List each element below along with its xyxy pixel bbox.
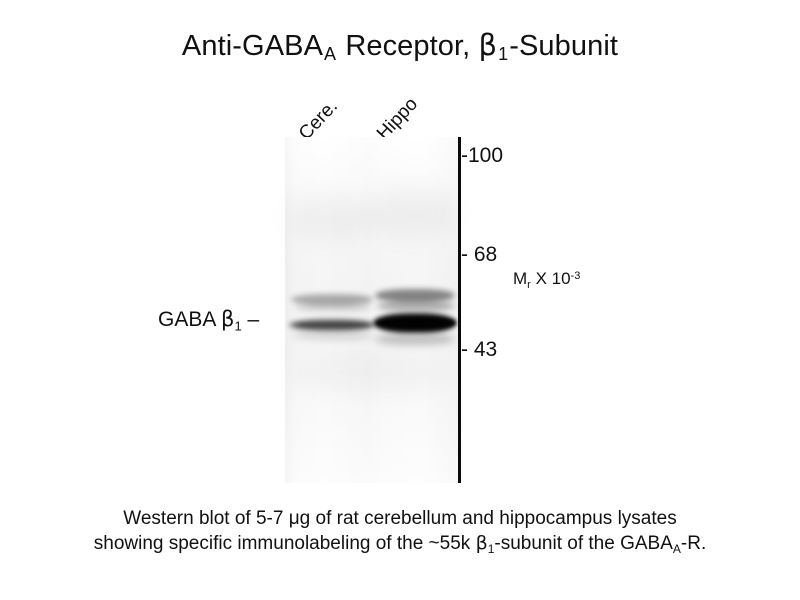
title-middle: Receptor, (337, 30, 478, 62)
caption-line-1: Western blot of 5-7 μg of rat cerebellum… (0, 506, 800, 531)
annotation-beta-glyph: β (221, 307, 234, 331)
band-annotation-gaba-beta1: GABA β1 – (158, 307, 259, 334)
page-title: Anti-GABAA Receptor, β1-Subunit (0, 28, 800, 65)
figure-caption: Western blot of 5-7 μg of rat cerebellum… (0, 506, 800, 562)
title-prefix: Anti-GABA (182, 30, 323, 62)
title-subscript-a: A (323, 44, 337, 64)
cere-main-band-tail (293, 331, 373, 340)
annotation-pointer-dash: – (242, 308, 260, 331)
caption-line-2: showing specific immunolabeling of the ~… (0, 531, 800, 562)
title-subscript-one: 1 (497, 44, 509, 64)
hippo-main-band-tail (375, 333, 455, 345)
marker-tick-68: - 68 (461, 243, 497, 267)
annotation-protein: GABA (158, 308, 221, 331)
western-blot-image (285, 137, 458, 483)
marker-tick-43: - 43 (461, 338, 497, 362)
molecular-weight-axis-line (458, 137, 461, 483)
title-suffix: -Subunit (509, 30, 618, 62)
annotation-subscript-one: 1 (234, 319, 241, 334)
caption-line-2-part-3: -R. (681, 533, 706, 554)
caption-beta-glyph: β (476, 532, 488, 554)
title-beta-glyph: β (479, 28, 498, 62)
mr-label-m: M (513, 269, 527, 288)
blot-background-haze-left (287, 195, 373, 241)
hippo-main-band-core (377, 317, 455, 329)
blot-background-haze-lower (291, 352, 451, 392)
cere-main-band-core (295, 322, 371, 328)
hippo-upper-band-shadow (377, 301, 455, 311)
mr-label-exponent: -3 (571, 270, 581, 282)
caption-line-2-part-2: -subunit of the GABA (494, 533, 673, 554)
caption-subscript-a: A (673, 542, 681, 556)
marker-tick-100: -100 (461, 144, 503, 168)
caption-line-2-part-1: showing specific immunolabeling of the ~… (94, 533, 476, 554)
blot-background-haze-right (369, 187, 455, 239)
mr-label-mid: X 10 (531, 269, 571, 288)
cere-upper-band-shadow (295, 303, 371, 311)
molecular-weight-axis-label: Mr X 10-3 (513, 269, 580, 291)
